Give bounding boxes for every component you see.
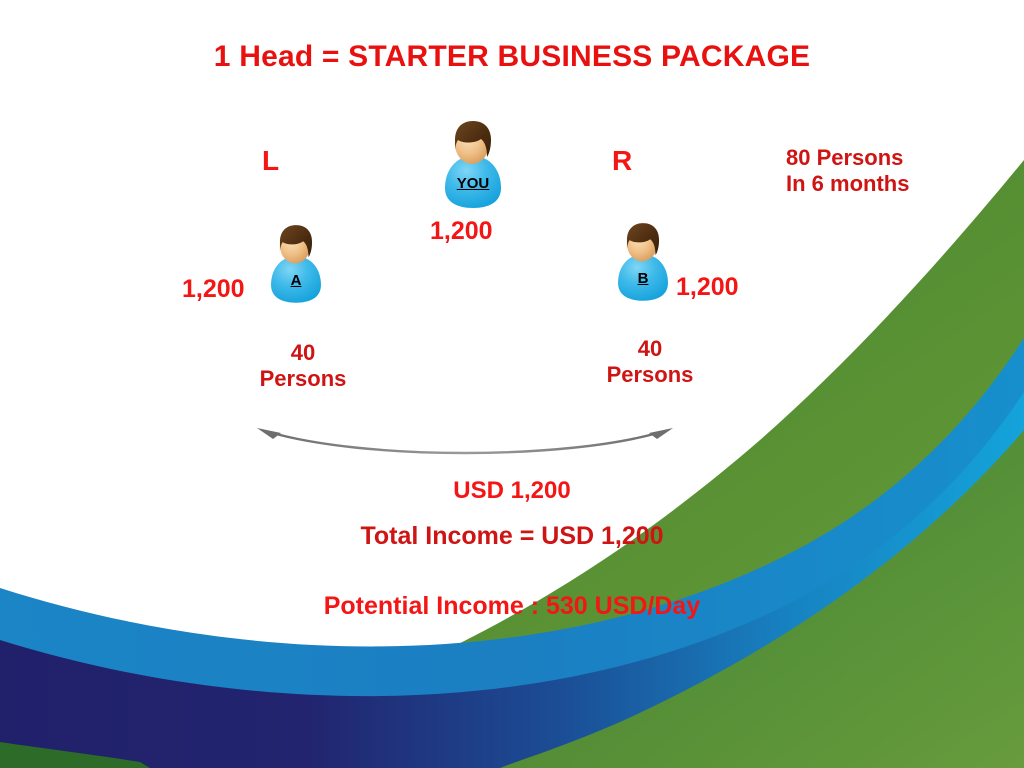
right-leg-label: R	[612, 144, 632, 177]
avatar-a-tag: A	[263, 272, 329, 289]
total-income-line: Total Income = USD 1,200	[0, 522, 1024, 552]
amount-a: 1,200	[182, 275, 245, 305]
decorative-wave-graphic	[0, 0, 1024, 768]
page-title: 1 Head = STARTER BUSINESS PACKAGE	[0, 40, 1024, 74]
person-icon	[263, 222, 329, 305]
summary-badge-line2: In 6 months	[786, 171, 909, 197]
potential-income-line: Potential Income : 530 USD/Day	[0, 592, 1024, 622]
usd-line: USD 1,200	[0, 477, 1024, 505]
left-leg-label: L	[262, 144, 279, 177]
avatar-b: B	[610, 220, 676, 303]
left-persons-number: 40	[253, 340, 353, 366]
right-persons-unit: Persons	[585, 362, 715, 388]
avatar-a: A	[263, 222, 329, 305]
left-persons-count: 40 Persons	[253, 340, 353, 392]
avatar-b-tag: B	[610, 270, 676, 287]
summary-badge-line1: 80 Persons	[786, 145, 909, 171]
person-icon	[610, 220, 676, 303]
right-persons-number: 40	[585, 336, 715, 362]
avatar-you: YOU	[436, 118, 510, 210]
left-persons-unit: Persons	[253, 366, 353, 392]
connector-arrow	[255, 424, 675, 464]
summary-badge: 80 Persons In 6 months	[786, 145, 909, 197]
amount-you: 1,200	[430, 217, 493, 247]
amount-b: 1,200	[676, 273, 739, 303]
slide-canvas: 1 Head = STARTER BUSINESS PACKAGE L R 80…	[0, 0, 1024, 768]
avatar-you-tag: YOU	[436, 175, 510, 192]
person-icon	[436, 118, 510, 210]
right-persons-count: 40 Persons	[585, 336, 715, 388]
